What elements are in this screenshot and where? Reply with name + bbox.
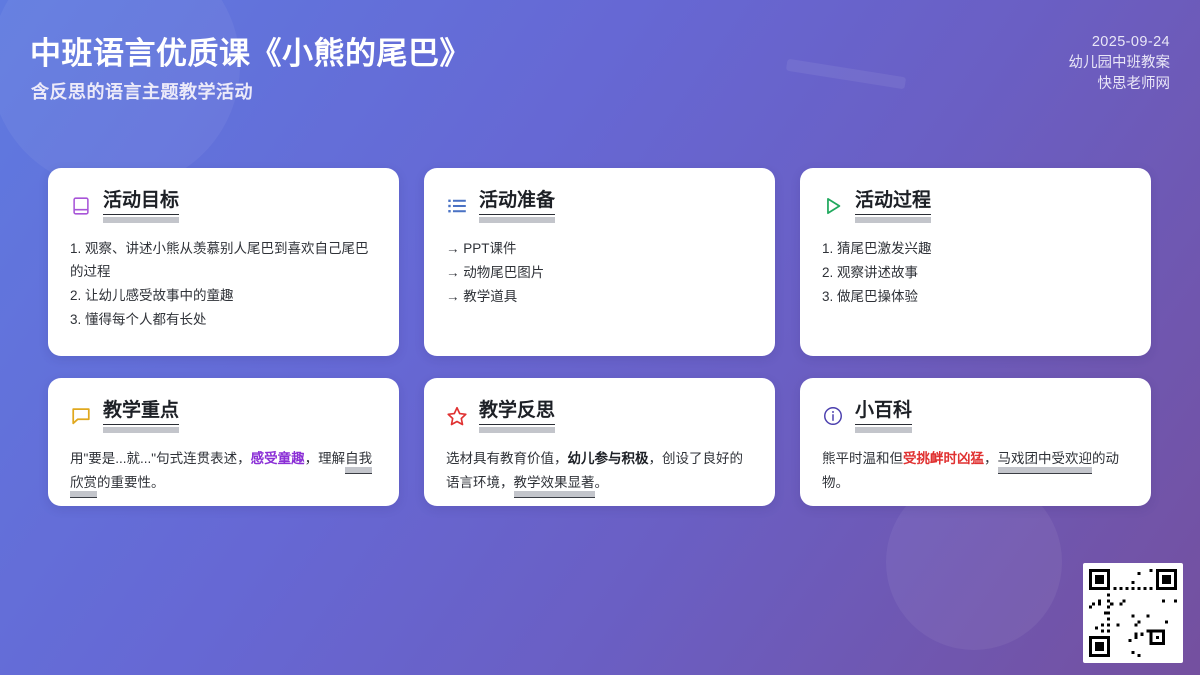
card-body-text: 用"要是...就..."句式连贯表述，感受童趣，理解自我欣赏的重要性。 (70, 447, 377, 495)
list-item: 1. 猜尾巴激发兴趣 (822, 237, 1129, 260)
qr-code-image (1089, 569, 1177, 657)
star-icon (446, 405, 468, 427)
body-text-segment: 的重要性。 (97, 475, 165, 490)
highlight-purple: 感受童趣 (251, 451, 305, 466)
body-text-segment: ， (984, 451, 998, 466)
card-title: 教学反思 (479, 400, 555, 425)
qr-code[interactable] (1083, 563, 1183, 663)
list-item: → 动物尾巴图片 (446, 261, 753, 284)
body-text-segment: ，理解 (305, 451, 346, 466)
highlight-underline: 马戏团中受欢迎 (998, 451, 1093, 474)
card-title-wrap: 活动目标 (103, 190, 179, 223)
meta-date: 2025-09-24 (1069, 32, 1171, 53)
list-item: 3. 做尾巴操体验 (822, 285, 1129, 308)
list-item: 3. 懂得每个人都有长处 (70, 308, 377, 331)
page-subtitle: 含反思的语言主题教学活动 (31, 78, 253, 104)
book-icon (70, 195, 92, 217)
list-item: → 教学道具 (446, 285, 753, 308)
card-title-wrap: 教学重点 (103, 400, 179, 433)
card-encyclopedia: 小百科熊平时温和但受挑衅时凶猛，马戏团中受欢迎的动物。 (800, 378, 1151, 506)
body-text-segment: 。 (595, 475, 609, 490)
list-icon (446, 195, 468, 217)
body-text-segment: 选材具有教育价值， (446, 451, 568, 466)
card-grid: 活动目标1. 观察、讲述小熊从羡慕别人尾巴到喜欢自己尾巴的过程2. 让幼儿感受故… (48, 168, 1152, 506)
card-item-list: → PPT课件→ 动物尾巴图片→ 教学道具 (446, 237, 753, 308)
card-header: 活动准备 (446, 190, 753, 223)
card-item-list: 1. 猜尾巴激发兴趣2. 观察讲述故事3. 做尾巴操体验 (822, 237, 1129, 308)
card-title-highlight-bar (103, 217, 179, 223)
card-title-highlight-bar (855, 217, 931, 223)
header-meta: 2025-09-24 幼儿园中班教案 快思老师网 (1069, 32, 1171, 95)
card-title-wrap: 活动过程 (855, 190, 931, 223)
list-item: 2. 让幼儿感受故事中的童趣 (70, 284, 377, 307)
card-item-list: 1. 观察、讲述小熊从羡慕别人尾巴到喜欢自己尾巴的过程2. 让幼儿感受故事中的童… (70, 237, 377, 331)
card-goals: 活动目标1. 观察、讲述小熊从羡慕别人尾巴到喜欢自己尾巴的过程2. 让幼儿感受故… (48, 168, 399, 356)
card-header: 活动目标 (70, 190, 377, 223)
card-body-text: 熊平时温和但受挑衅时凶猛，马戏团中受欢迎的动物。 (822, 447, 1129, 495)
card-process: 活动过程1. 猜尾巴激发兴趣2. 观察讲述故事3. 做尾巴操体验 (800, 168, 1151, 356)
card-reflection: 教学反思选材具有教育价值，幼儿参与积极，创设了良好的语言环境，教学效果显著。 (424, 378, 775, 506)
card-key-points: 教学重点用"要是...就..."句式连贯表述，感受童趣，理解自我欣赏的重要性。 (48, 378, 399, 506)
card-title-highlight-bar (479, 217, 555, 223)
card-header: 教学反思 (446, 400, 753, 433)
speech-bubble-icon (70, 405, 92, 427)
meta-category: 幼儿园中班教案 (1069, 53, 1171, 74)
card-title: 活动过程 (855, 190, 931, 215)
list-item: 1. 观察、讲述小熊从羡慕别人尾巴到喜欢自己尾巴的过程 (70, 237, 377, 283)
body-text-segment: 熊平时温和但 (822, 451, 903, 466)
slide-header: 中班语言优质课《小熊的尾巴》 含反思的语言主题教学活动 2025-09-24 幼… (0, 0, 1200, 140)
card-title: 教学重点 (103, 400, 179, 425)
card-header: 活动过程 (822, 190, 1129, 223)
info-icon (822, 405, 844, 427)
card-title: 活动准备 (479, 190, 555, 215)
card-body-text: 选材具有教育价值，幼儿参与积极，创设了良好的语言环境，教学效果显著。 (446, 447, 753, 495)
play-icon (822, 195, 844, 217)
card-title: 小百科 (855, 400, 912, 425)
meta-site: 快思老师网 (1069, 74, 1171, 95)
card-header: 教学重点 (70, 400, 377, 433)
highlight-red: 受挑衅时凶猛 (903, 451, 984, 466)
highlight-underline: 教学效果显著 (514, 475, 595, 498)
card-preparation: 活动准备→ PPT课件→ 动物尾巴图片→ 教学道具 (424, 168, 775, 356)
list-item: → PPT课件 (446, 237, 753, 260)
card-title-wrap: 教学反思 (479, 400, 555, 433)
card-title-wrap: 小百科 (855, 400, 912, 433)
list-item: 2. 观察讲述故事 (822, 261, 1129, 284)
card-title-highlight-bar (479, 427, 555, 433)
card-title-highlight-bar (103, 427, 179, 433)
page-title: 中班语言优质课《小熊的尾巴》 (30, 28, 471, 73)
highlight-bold: 幼儿参与积极 (568, 451, 649, 466)
card-title-wrap: 活动准备 (479, 190, 555, 223)
body-text-segment: 用"要是...就..."句式连贯表述， (70, 451, 251, 466)
card-header: 小百科 (822, 400, 1129, 433)
slide-canvas: 中班语言优质课《小熊的尾巴》 含反思的语言主题教学活动 2025-09-24 幼… (0, 0, 1200, 675)
card-title-highlight-bar (855, 427, 912, 433)
card-title: 活动目标 (103, 190, 179, 215)
